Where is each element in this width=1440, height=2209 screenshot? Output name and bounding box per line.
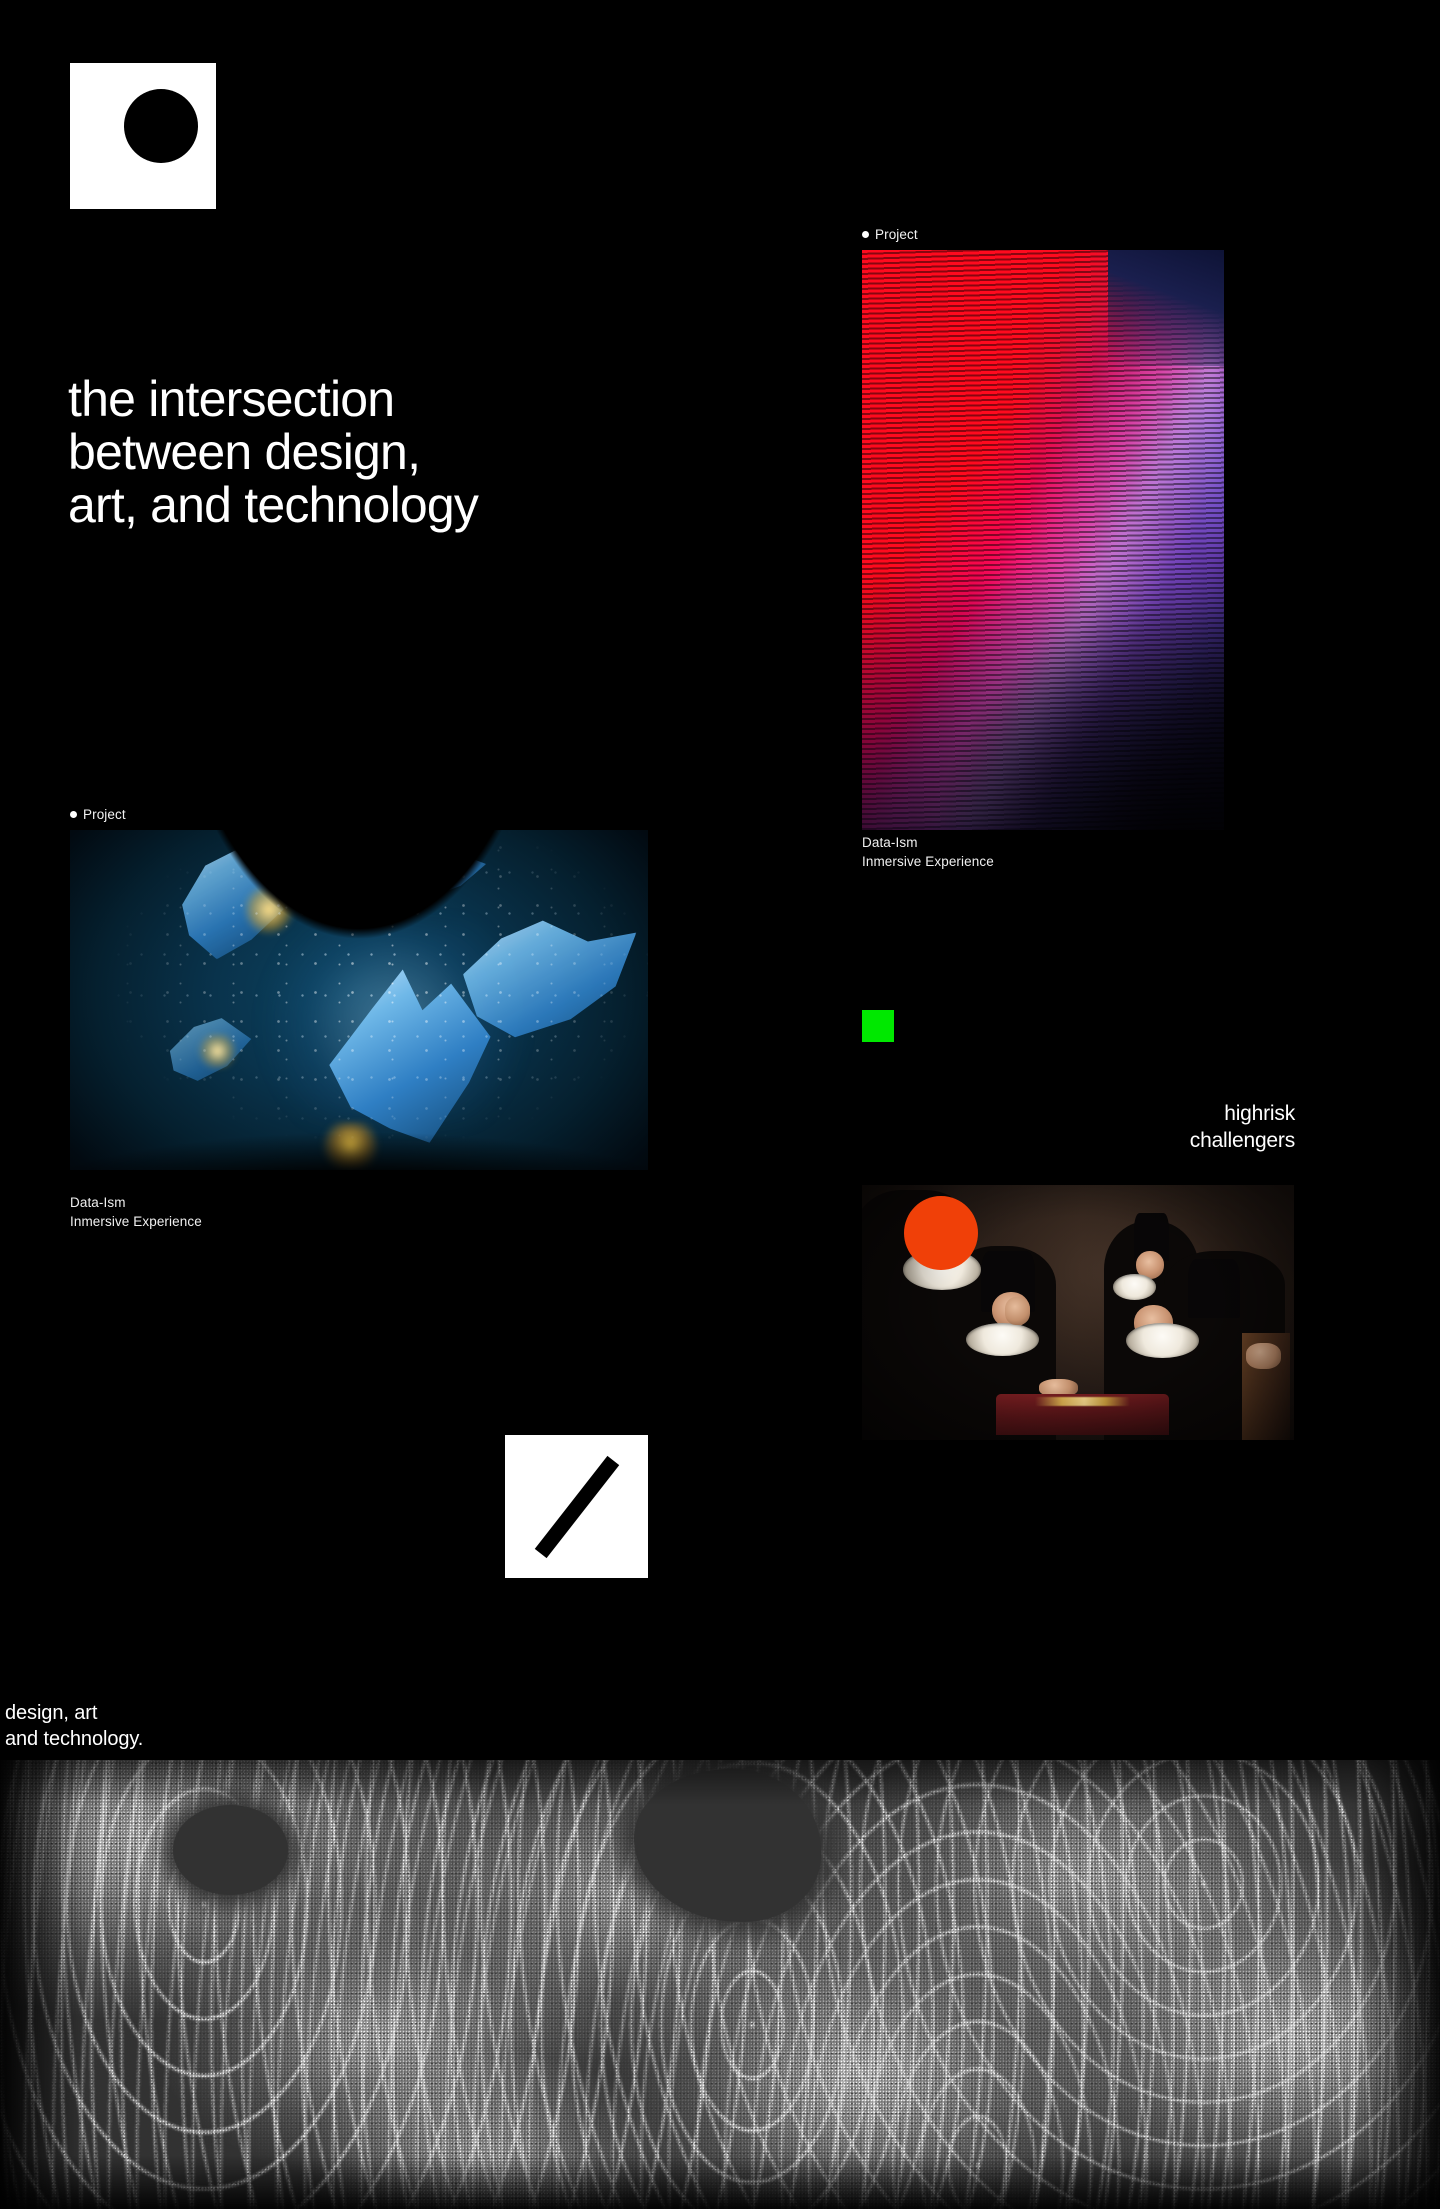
green-square-accent [862,1010,894,1042]
dome-mask [70,830,648,1170]
headline-line-3: art, and technology [68,479,708,532]
page-root: the intersection between design, art, an… [0,0,1440,2209]
project-label-birds: Project [70,807,126,822]
project-label-text: Project [83,807,126,822]
footer-line-2: and technology. [5,1726,143,1752]
footer-line-1: design, art [5,1700,143,1726]
project-label-red: Project [862,227,918,242]
project-label-text: Project [875,227,918,242]
diagonal-slash-tile[interactable] [505,1435,648,1578]
bullet-dot-icon [862,231,869,238]
side-feature-title: highrisk challengers [995,1101,1295,1154]
side-title-line-2: challengers [995,1128,1295,1155]
project-caption-red: Data-Ism Inmersive Experience [862,833,994,871]
headline-line-2: between design, [68,426,708,479]
footer-statement: design, art and technology. [5,1700,143,1752]
side-feature-image[interactable] [862,1185,1294,1440]
orange-circle-overlay-icon [904,1196,977,1270]
project-title: Data-Ism [862,833,994,852]
texture-vignette [0,1760,1440,2209]
project-caption-birds: Data-Ism Inmersive Experience [70,1193,202,1231]
project-image-data-ism-red[interactable] [862,250,1224,830]
bullet-dot-icon [70,811,77,818]
hero-headline: the intersection between design, art, an… [68,373,708,532]
logo-circle-icon [124,89,198,163]
project-subtitle: Inmersive Experience [70,1212,202,1231]
project-image-data-ism-birds[interactable] [70,830,648,1170]
project-subtitle: Inmersive Experience [862,852,994,871]
project-title: Data-Ism [70,1193,202,1212]
side-title-line-1: highrisk [995,1101,1295,1128]
site-logo[interactable] [70,63,216,209]
headline-line-1: the intersection [68,373,708,426]
vignette-overlay [862,250,1224,830]
footer-texture-image [0,1760,1440,2209]
